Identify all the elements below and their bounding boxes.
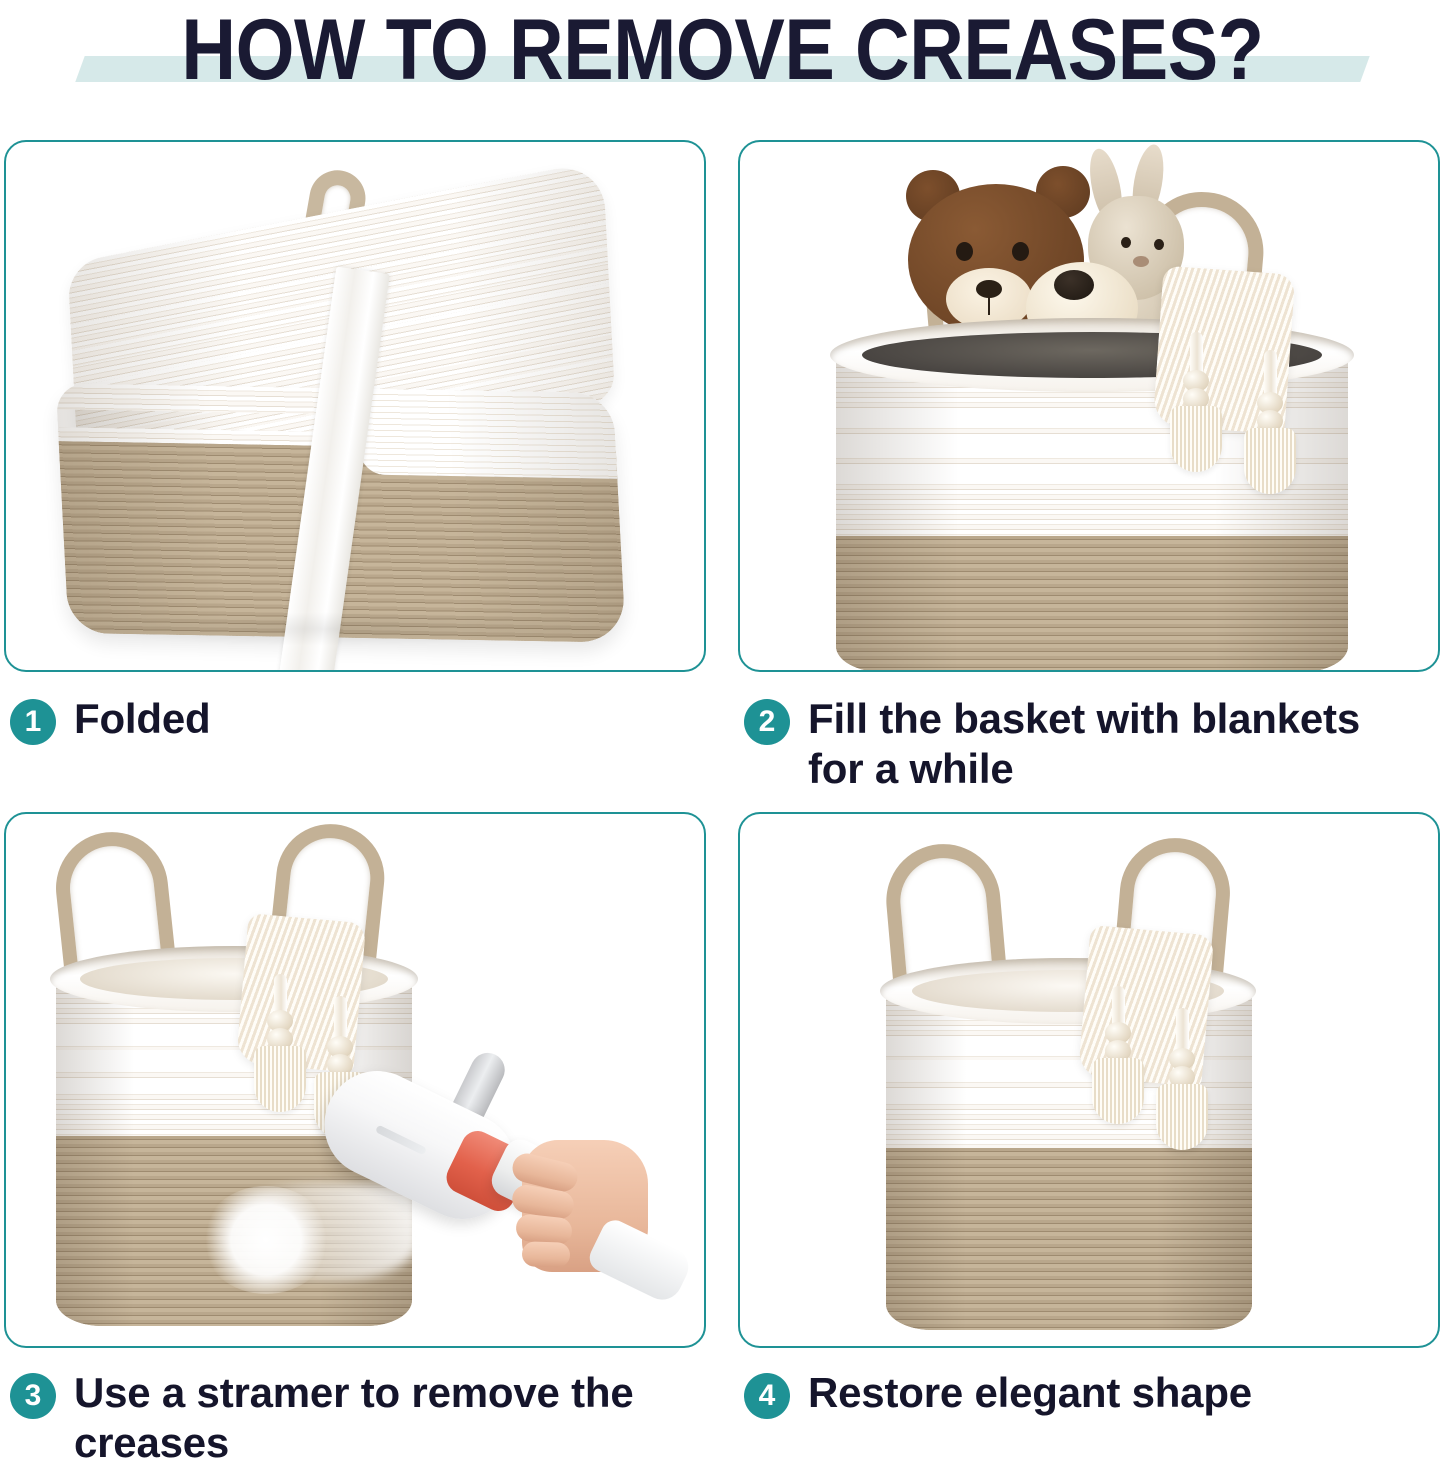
bear-eye-right [1012,242,1029,261]
steam-burst-icon [202,1186,330,1294]
step-panel-fill [738,140,1440,672]
step-label-3-line1: Use a stramer to remove the [74,1368,634,1418]
step-label-2: Fill the basket with blankets for a whil… [808,694,1360,793]
step-label-2-line2: for a while [808,744,1360,794]
step-badge-4: 4 [744,1373,790,1419]
step-caption-3: 3 Use a stramer to remove the creases [10,1368,700,1458]
bear-eye-left [956,242,973,261]
step-badge-3: 3 [10,1373,56,1419]
infographic-page: HOW TO REMOVE CREASES? [0,0,1445,1458]
step-label-3-line2: creases [74,1418,634,1458]
step-label-4: Restore elegant shape [808,1368,1252,1418]
rope-basket [868,956,1268,1336]
folded-stack [47,198,628,647]
folded-basket-illustration [6,142,704,670]
step-panel-folded [4,140,706,672]
step-panel-restored [738,812,1440,1348]
step-caption-1: 1 Folded [10,694,700,745]
step-label-3: Use a stramer to remove the creases [74,1368,634,1458]
restored-basket-illustration [740,814,1438,1346]
step-caption-2: 2 Fill the basket with blankets for a wh… [744,694,1434,793]
finger-4 [522,1241,571,1268]
step-panel-steam [4,812,706,1348]
steaming-basket-illustration [6,814,704,1346]
page-title: HOW TO REMOVE CREASES? [87,0,1359,100]
bear-nose [976,280,1002,298]
step-caption-4: 4 Restore elegant shape [744,1368,1434,1419]
rope-basket [806,312,1378,672]
step-label-1: Folded [74,694,210,744]
step-label-2-line1: Fill the basket with blankets [808,694,1360,744]
filled-basket-illustration [740,142,1438,670]
dog-nose [1054,270,1094,300]
step-badge-1: 1 [10,699,56,745]
step-badge-2: 2 [744,699,790,745]
page-header: HOW TO REMOVE CREASES? [0,0,1445,112]
